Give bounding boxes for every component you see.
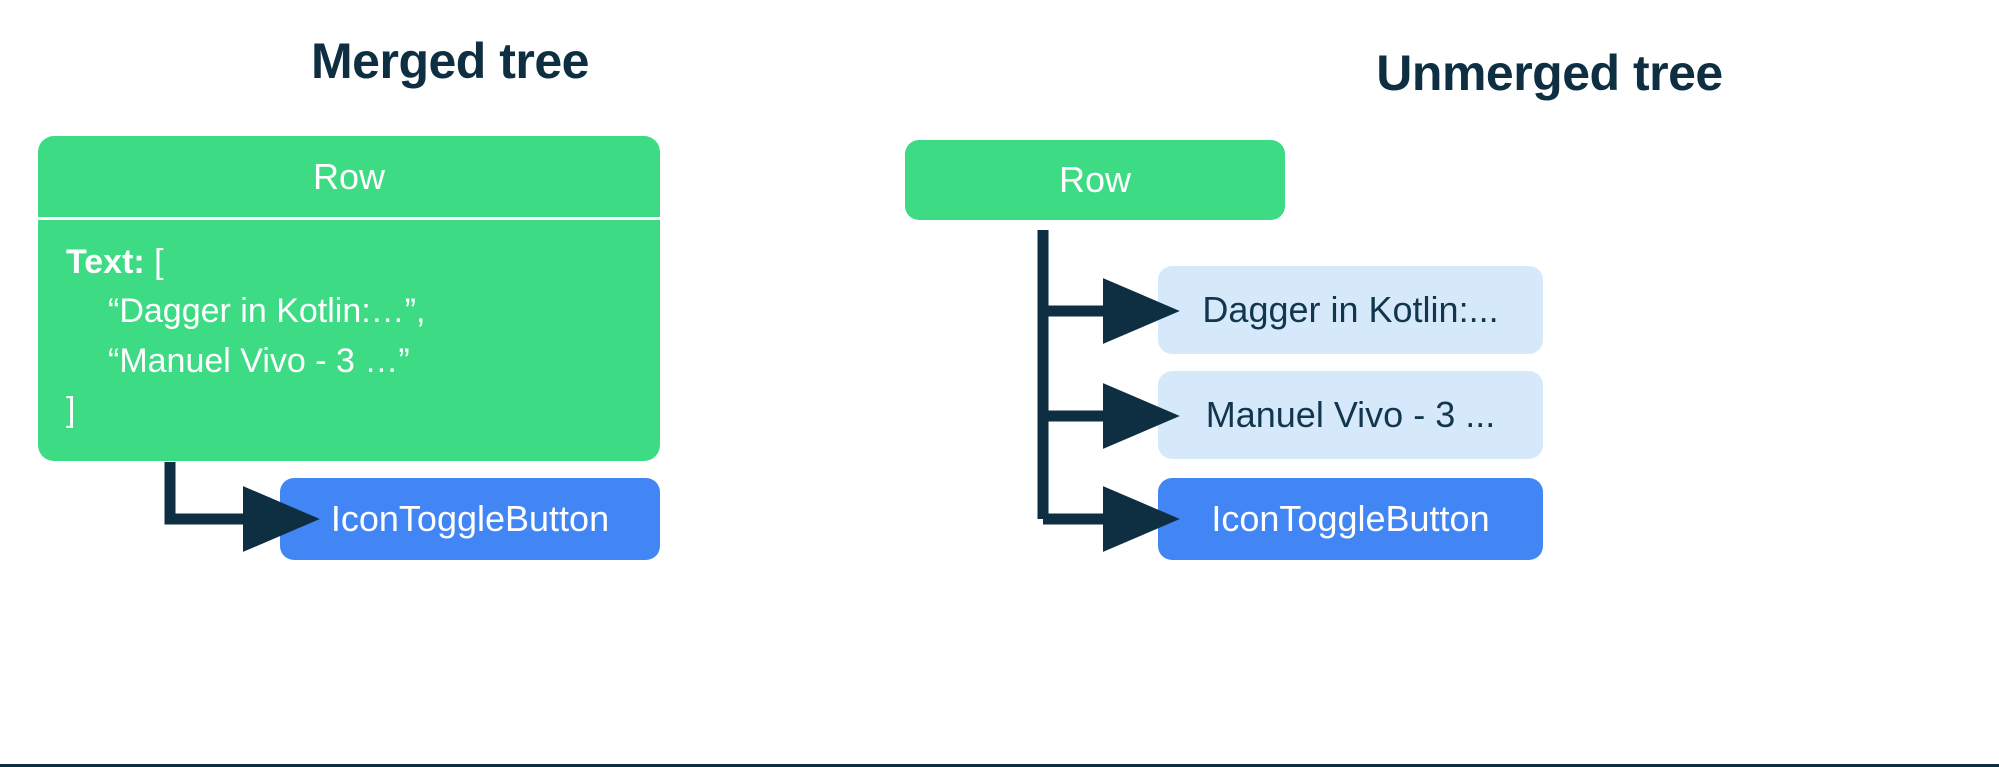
text-property-value-0: “Dagger in Kotlin:…”,	[66, 287, 660, 336]
merged-row-node: Row Text: [ “Dagger in Kotlin:…”, “Manue…	[38, 136, 660, 461]
text-property-close-bracket: ]	[66, 386, 660, 435]
unmerged-child-node-0: Dagger in Kotlin:...	[1158, 266, 1543, 354]
merged-text-semantics: Text: [ “Dagger in Kotlin:…”, “Manuel Vi…	[38, 220, 660, 461]
text-property-line: Text: [	[66, 238, 660, 287]
merged-icontogglebutton-label: IconToggleButton	[331, 497, 609, 540]
merged-tree-connector-arrow	[170, 462, 245, 519]
unmerged-child-label-2: IconToggleButton	[1211, 497, 1489, 540]
merged-row-node-label: Row	[38, 136, 660, 220]
text-property-open-bracket: [	[154, 243, 163, 281]
diagram-canvas: Merged tree Row Text: [ “Dagger in Kotli…	[0, 0, 1999, 767]
text-property-value-1: “Manuel Vivo - 3 …”	[66, 337, 660, 386]
unmerged-row-node-label: Row	[1059, 158, 1131, 201]
unmerged-child-label-1: Manuel Vivo - 3 ...	[1206, 393, 1495, 436]
unmerged-row-node: Row	[905, 140, 1285, 220]
unmerged-child-node-2: IconToggleButton	[1158, 478, 1543, 560]
merged-tree-title: Merged tree	[0, 34, 900, 89]
unmerged-child-label-0: Dagger in Kotlin:...	[1202, 288, 1498, 331]
text-property-key: Text:	[66, 243, 145, 281]
merged-icontogglebutton-node: IconToggleButton	[280, 478, 660, 560]
unmerged-child-node-1: Manuel Vivo - 3 ...	[1158, 371, 1543, 459]
unmerged-tree-title: Unmerged tree	[1100, 46, 1999, 101]
